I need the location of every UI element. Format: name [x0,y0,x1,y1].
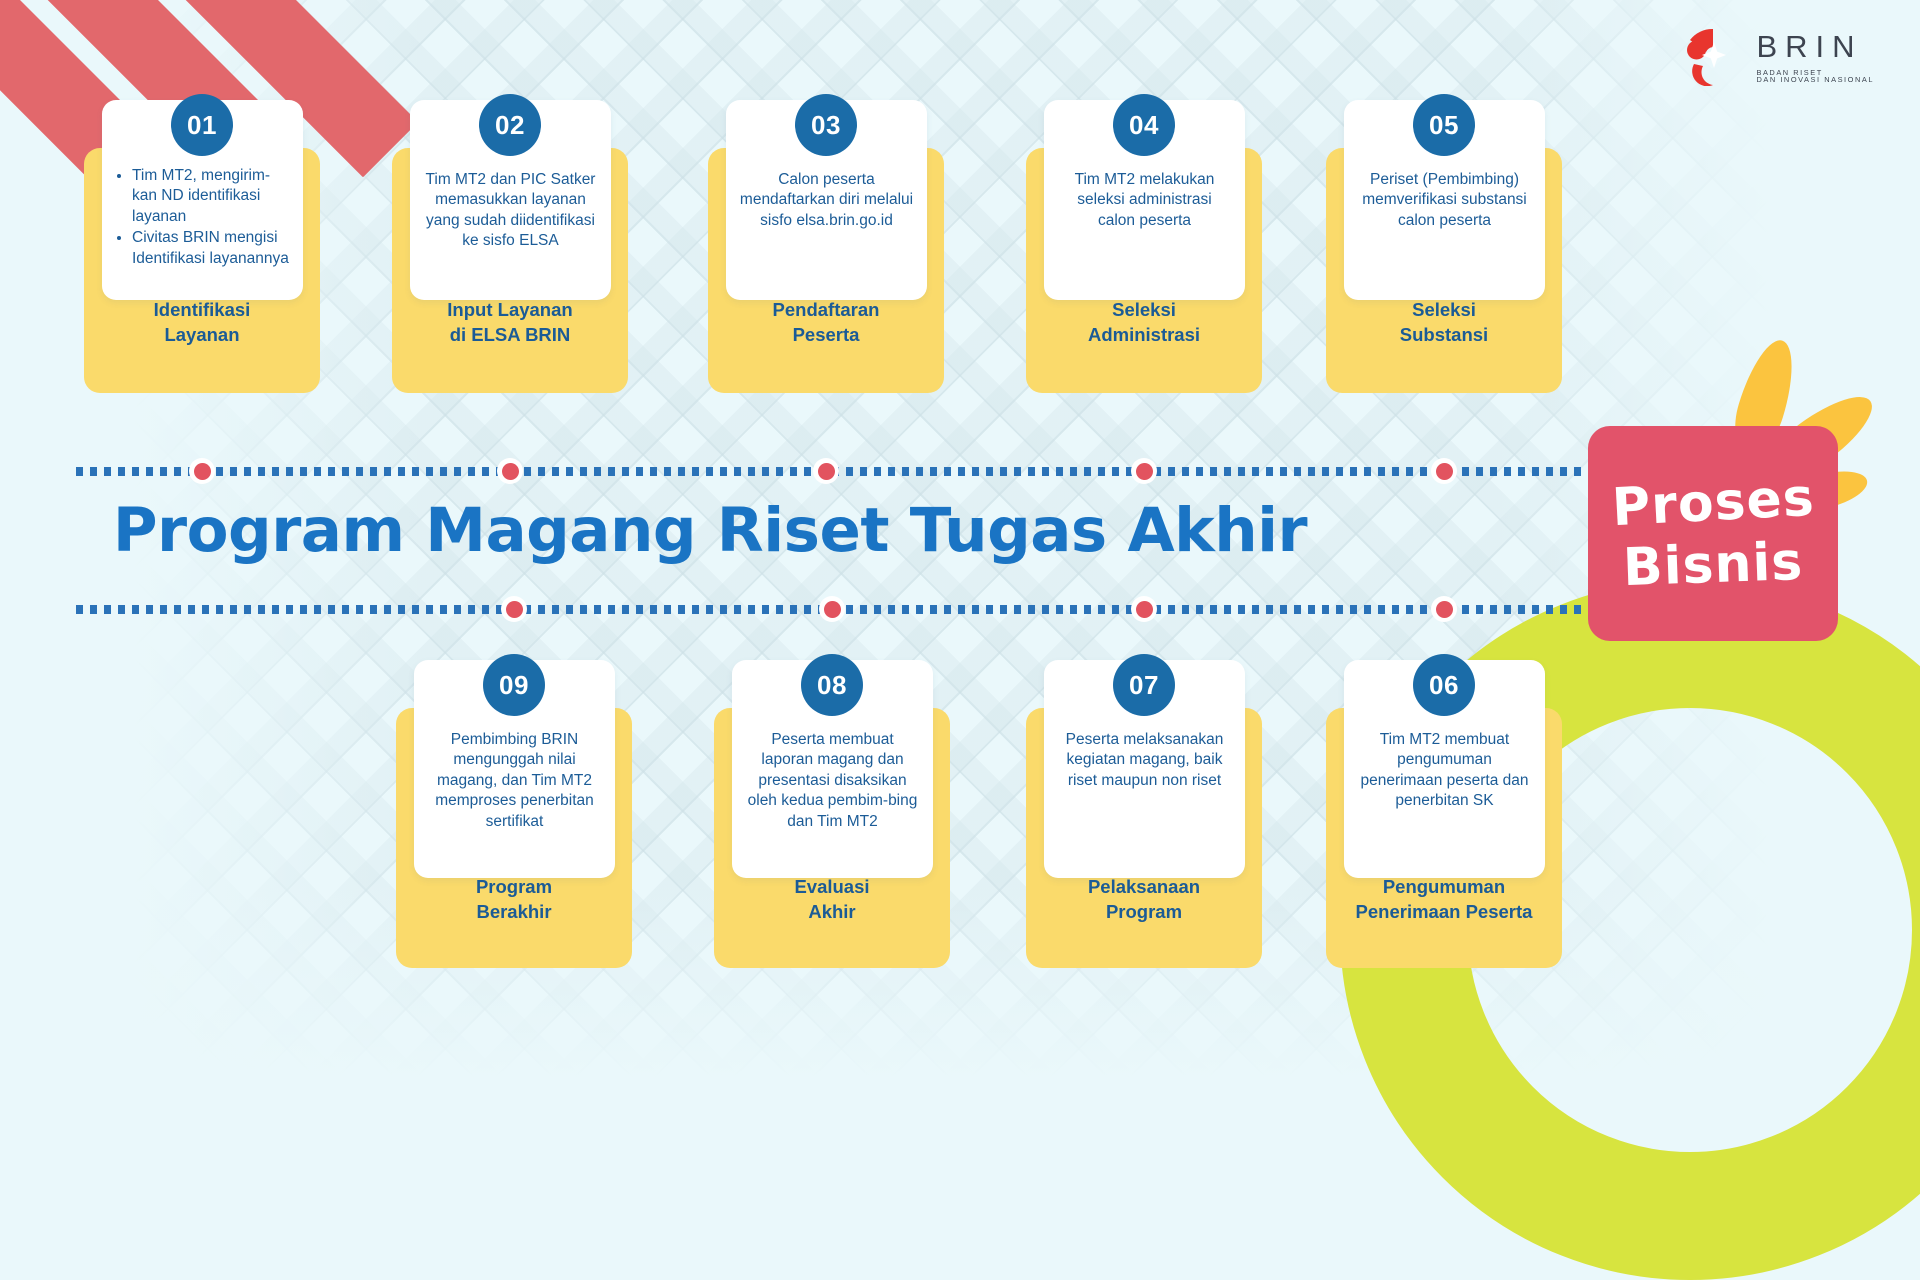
step-title-line2: Peserta [708,323,944,348]
step-title-line2: Akhir [714,900,950,925]
step-title-line1: Seleksi [1026,298,1262,323]
timeline-dot-top-1 [189,458,215,484]
brin-tagline: BADAN RISET DAN INOVASI NASIONAL [1756,69,1874,84]
timeline-dot-top-5 [1431,458,1457,484]
brin-tagline-line2: DAN INOVASI NASIONAL [1756,76,1874,83]
brin-wordmark-text: BRIN [1756,31,1874,62]
brin-logo: BRIN BADAN RISET DAN INOVASI NASIONAL [1684,28,1874,86]
page-title: Program Magang Riset Tugas Akhir [0,495,1420,566]
step-number-badge: 05 [1413,94,1475,156]
card-bullet-item: Civitas BRIN mengisi Identifikasi layana… [132,228,290,269]
step-title: Pengumuman Penerimaan Peserta [1326,875,1562,924]
step-title-line1: Program [396,875,632,900]
step-number-badge: 01 [171,94,233,156]
badge-label-line2: Bisnis [1622,535,1804,593]
step-number-badge: 06 [1413,654,1475,716]
step-title-line1: Pelaksanaan [1026,875,1262,900]
step-title-line2: Penerimaan Peserta [1326,900,1562,925]
step-title: Pelaksanaan Program [1026,875,1262,924]
step-title: Input Layanan di ELSA BRIN [392,298,628,347]
brin-wordmark-block: BRIN BADAN RISET DAN INOVASI NASIONAL [1756,31,1874,84]
timeline-dot-bottom-1 [501,596,527,622]
step-number-badge: 02 [479,94,541,156]
step-title: Pendaftaran Peserta [708,298,944,347]
card-bullet-item: Tim MT2, mengirim-kan ND identifikasi la… [132,166,290,227]
process-steps-top-row: Tim MT2, mengirim-kan ND identifikasi la… [0,100,1920,400]
timeline-dot-top-4 [1131,458,1157,484]
timeline-dot-bottom-2 [819,596,845,622]
step-title-line2: Administrasi [1026,323,1262,348]
step-title: Program Berakhir [396,875,632,924]
timeline-bottom-dotted-line [76,605,1716,614]
step-title: Seleksi Substansi [1326,298,1562,347]
badge-box: Proses Bisnis [1588,426,1838,641]
process-steps-bottom-row: Pembimbing BRIN mengunggah nilai magang,… [0,660,1920,980]
badge-label-line1: Proses [1610,471,1815,534]
step-number-badge: 08 [801,654,863,716]
step-title-line1: Evaluasi [714,875,950,900]
step-number-badge: 03 [795,94,857,156]
step-title-line1: Pendaftaran [708,298,944,323]
step-title-line1: Pengumuman [1326,875,1562,900]
step-number-badge: 04 [1113,94,1175,156]
step-title-line1: Input Layanan [392,298,628,323]
card-bullet-list: Tim MT2, mengirim-kan ND identifikasi la… [115,166,290,269]
timeline-dot-top-2 [497,458,523,484]
step-title-line2: Substansi [1326,323,1562,348]
step-title: Identifikasi Layanan [84,298,320,347]
step-number-badge: 07 [1113,654,1175,716]
timeline-dot-bottom-4 [1431,596,1457,622]
step-title: Seleksi Administrasi [1026,298,1262,347]
timeline-dot-bottom-3 [1131,596,1157,622]
timeline-dot-top-3 [813,458,839,484]
step-title-line1: Identifikasi [84,298,320,323]
step-title-line2: Berakhir [396,900,632,925]
brin-emblem-icon [1684,28,1742,86]
step-title: Evaluasi Akhir [714,875,950,924]
step-title-line1: Seleksi [1326,298,1562,323]
step-number-badge: 09 [483,654,545,716]
step-title-line2: di ELSA BRIN [392,323,628,348]
proses-bisnis-badge: Proses Bisnis [1588,426,1838,641]
timeline-top-dotted-line [76,467,1776,476]
step-title-line2: Program [1026,900,1262,925]
step-title-line2: Layanan [84,323,320,348]
